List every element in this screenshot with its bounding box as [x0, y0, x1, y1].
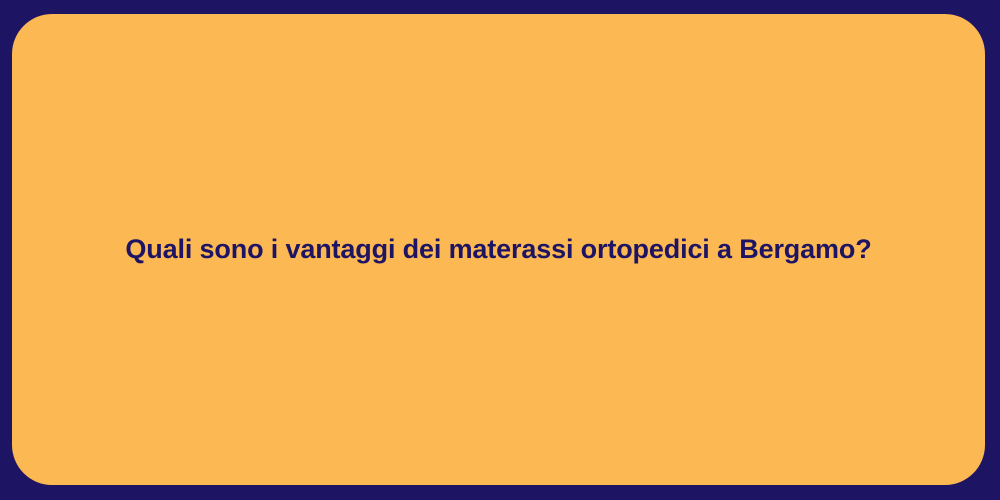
- banner-frame: Quali sono i vantaggi dei materassi orto…: [0, 0, 1000, 500]
- banner-card: Quali sono i vantaggi dei materassi orto…: [12, 14, 985, 485]
- banner-headline: Quali sono i vantaggi dei materassi orto…: [85, 233, 911, 267]
